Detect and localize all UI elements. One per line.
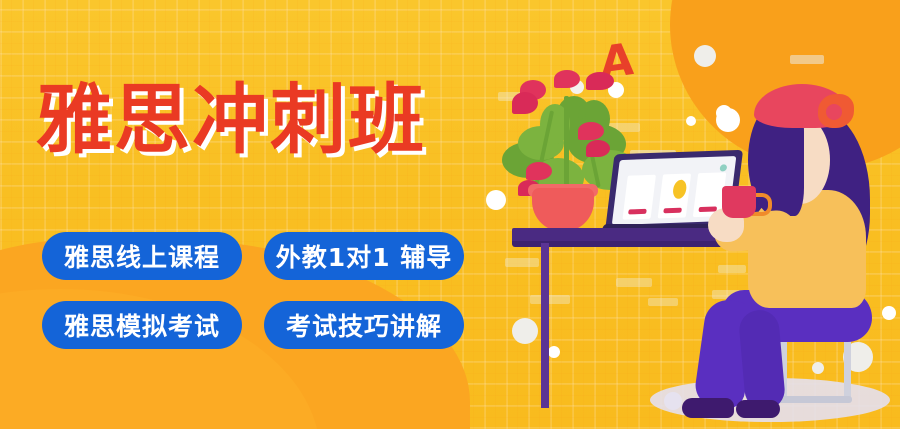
laptop-screen-card [622,175,656,220]
plant-flower [586,140,610,157]
feature-pill-row-1: 雅思线上课程 外教1对1 辅导 [42,232,464,280]
plant-flower [526,162,552,180]
mug-body [722,186,756,218]
illustration: A [460,0,900,429]
feature-pill-online-course[interactable]: 雅思线上课程 [42,232,242,280]
plant-stem [564,96,569,192]
page-title: 雅思冲刺班 [36,82,426,158]
person-shoe [682,398,734,418]
plant-flower [512,92,538,114]
ielts-course-banner: 雅思冲刺班 雅思线上课程 外教1对1 辅导 雅思模拟考试 考试技巧讲解 A [0,0,900,429]
plant-flower [578,122,604,140]
stool-foot [778,396,852,403]
laptop-screen-button [663,208,682,214]
feature-pill-grid: 雅思线上课程 外教1对1 辅导 雅思模拟考试 考试技巧讲解 [42,232,464,370]
feature-pill-row-2: 雅思模拟考试 考试技巧讲解 [42,301,464,349]
person-shoe [736,400,780,418]
person-hat-bow-center [826,104,842,120]
laptop-screen-button [628,209,647,215]
plant-pot [532,188,594,232]
plant-flower [586,72,614,90]
feature-pill-mock-exam[interactable]: 雅思模拟考试 [42,301,242,349]
plant-flower [554,70,580,88]
desk-leg [541,243,549,408]
laptop-screen-dot [719,164,727,171]
feature-pill-foreign-teacher-1on1[interactable]: 外教1对1 辅导 [264,232,464,280]
feature-pill-exam-skills[interactable]: 考试技巧讲解 [264,301,464,349]
